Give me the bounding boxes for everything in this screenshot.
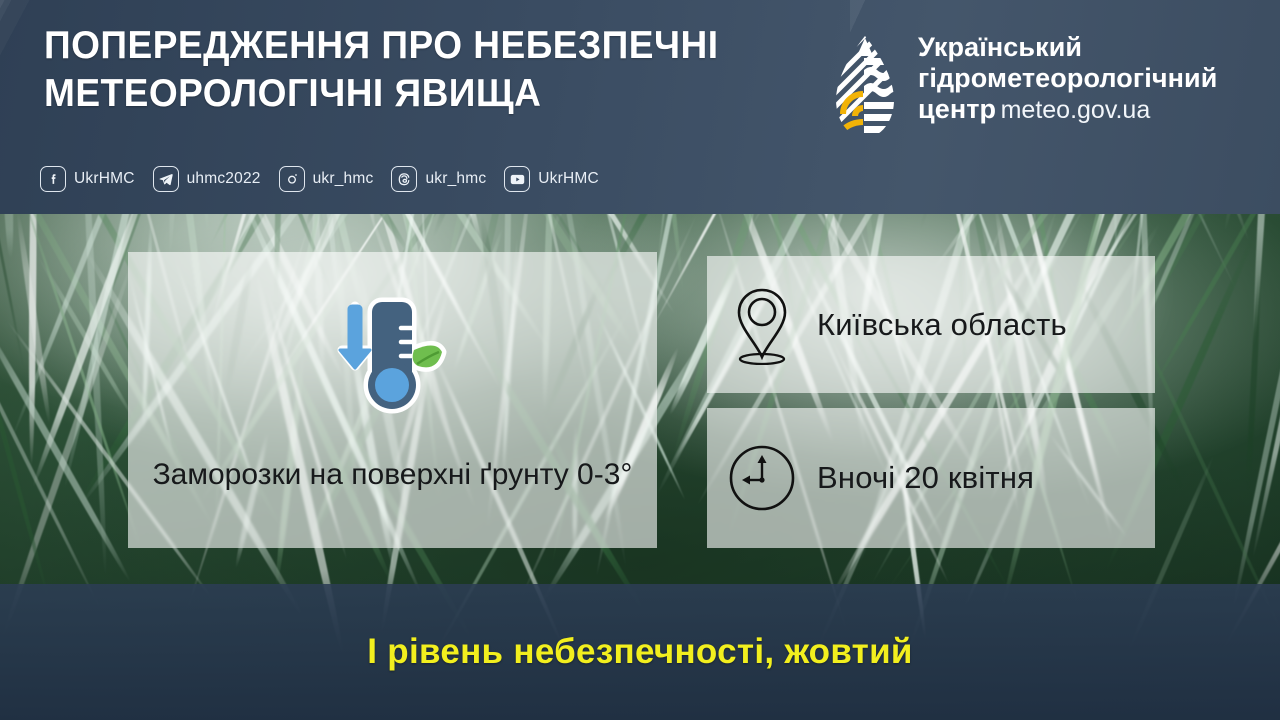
- social-links-row: UkrHMC uhmc2022 ukr_hmc: [40, 166, 617, 192]
- logo-website-url: meteo.gov.ua: [1001, 96, 1151, 124]
- time-card: Вночі 20 квітня: [707, 408, 1155, 548]
- social-link-instagram[interactable]: ukr_hmc: [279, 166, 374, 192]
- clock-icon: [707, 442, 817, 514]
- time-description: Вночі 20 квітня: [817, 460, 1034, 496]
- page-title: ПОПЕРЕДЖЕННЯ ПРО НЕБЕЗПЕЧНІ МЕТЕОРОЛОГІЧ…: [44, 22, 766, 118]
- region-name: Київська область: [817, 307, 1067, 343]
- danger-level-text: I рівень небезпечності, жовтий: [367, 632, 913, 672]
- telegram-icon: [153, 166, 179, 192]
- social-handle-facebook: UkrHMC: [74, 170, 135, 188]
- social-handle-youtube: UkrHMC: [538, 170, 599, 188]
- facebook-icon: [40, 166, 66, 192]
- instagram-icon: [279, 166, 305, 192]
- logo-text-block: Український гідрометеорологічний центр m…: [918, 32, 1217, 125]
- location-pin-icon: [707, 285, 817, 365]
- social-handle-telegram: uhmc2022: [187, 170, 261, 188]
- youtube-icon: [504, 166, 530, 192]
- social-link-threads[interactable]: ukr_hmc: [391, 166, 486, 192]
- social-link-youtube[interactable]: UkrHMC: [504, 166, 599, 192]
- hazard-description: Заморозки на поверхні ґрунту 0-3°: [131, 455, 655, 495]
- region-card: Київська область: [707, 256, 1155, 393]
- ukrhmc-logo[interactable]: Український гідрометеорологічний центр m…: [832, 32, 1217, 142]
- ukrhmc-droplet-logo-icon: [832, 34, 898, 142]
- social-link-facebook[interactable]: UkrHMC: [40, 166, 135, 192]
- social-handle-instagram: ukr_hmc: [313, 170, 374, 188]
- threads-icon: [391, 166, 417, 192]
- social-handle-threads: ukr_hmc: [425, 170, 486, 188]
- header-band: ПОПЕРЕДЖЕННЯ ПРО НЕБЕЗПЕЧНІ МЕТЕОРОЛОГІЧ…: [0, 0, 1280, 214]
- thermometer-cold-leaf-icon: [335, 288, 451, 425]
- weather-warning-poster: ПОПЕРЕДЖЕННЯ ПРО НЕБЕЗПЕЧНІ МЕТЕОРОЛОГІЧ…: [0, 0, 1280, 720]
- danger-level-banner: I рівень небезпечності, жовтий: [0, 584, 1280, 720]
- hazard-card: Заморозки на поверхні ґрунту 0-3°: [128, 252, 657, 548]
- social-link-telegram[interactable]: uhmc2022: [153, 166, 261, 192]
